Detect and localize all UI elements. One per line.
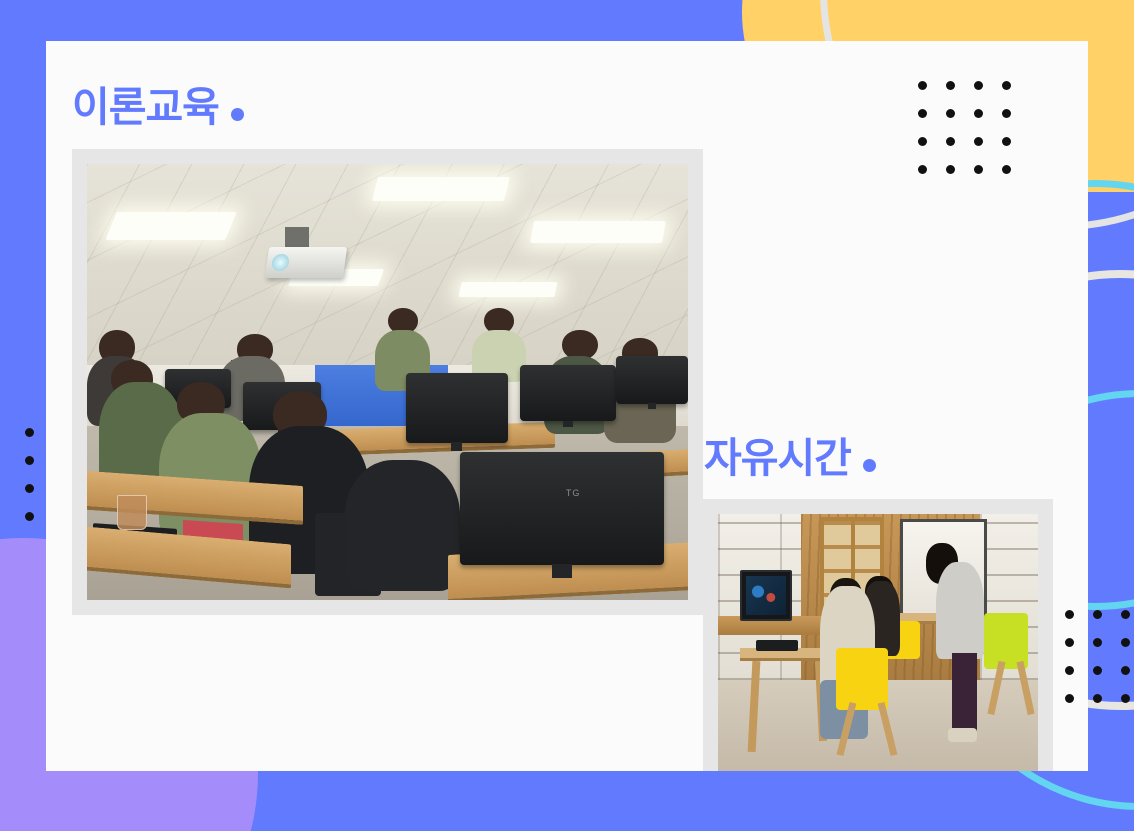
dot xyxy=(918,137,927,146)
standing-person-legs xyxy=(952,653,978,733)
dot-grid-top-right xyxy=(918,81,1030,193)
section-title-text-theory: 이론교육 xyxy=(72,84,219,130)
dot xyxy=(1065,666,1074,675)
standing-person-shoes xyxy=(948,728,977,741)
photo-frame-classroom: TG xyxy=(72,149,703,615)
dot xyxy=(918,109,927,118)
dot xyxy=(1002,81,1011,90)
dot xyxy=(1002,137,1011,146)
dot xyxy=(946,109,955,118)
dot xyxy=(1002,109,1011,118)
lounge-monitor xyxy=(740,570,791,621)
dot xyxy=(946,137,955,146)
dot xyxy=(1065,638,1074,647)
monitor-6 xyxy=(616,356,688,404)
projector-icon xyxy=(265,247,347,278)
dot xyxy=(1093,666,1102,675)
coffee-cup-icon xyxy=(117,495,147,530)
dot xyxy=(1121,638,1130,647)
dot xyxy=(25,456,34,465)
dot xyxy=(974,109,983,118)
page-title-theory: 이론교육 xyxy=(72,87,244,128)
dot xyxy=(25,484,34,493)
title-dot-icon-theory xyxy=(231,108,244,121)
monitor-brand-label: TG xyxy=(566,488,581,498)
dot xyxy=(918,81,927,90)
monitor-1-foreground: TG xyxy=(460,452,664,565)
dot xyxy=(1093,638,1102,647)
student-body-4 xyxy=(345,460,459,591)
dot xyxy=(974,81,983,90)
dot xyxy=(1093,610,1102,619)
ceiling-light-2 xyxy=(372,177,510,201)
title-dot-icon-free-time xyxy=(863,459,876,472)
dot xyxy=(946,165,955,174)
yellow-chair-front xyxy=(836,648,887,710)
dot xyxy=(25,512,34,521)
dot xyxy=(974,165,983,174)
dot xyxy=(946,81,955,90)
lounge-free-time-photo xyxy=(718,514,1038,771)
classroom-lecture-photo: TG xyxy=(87,164,688,600)
page-title-free-time: 자유시간 xyxy=(704,438,876,479)
lounge-keyboard xyxy=(756,640,798,651)
dot xyxy=(918,165,927,174)
dot xyxy=(1065,610,1074,619)
dot-grid-left xyxy=(25,428,53,540)
dot xyxy=(1065,694,1074,703)
ceiling-light-5 xyxy=(458,282,557,297)
dot xyxy=(1093,694,1102,703)
dot xyxy=(1121,610,1130,619)
dot xyxy=(1121,694,1130,703)
photo-frame-lounge xyxy=(703,499,1053,771)
dot-grid-bottom-right xyxy=(1065,610,1134,722)
dot xyxy=(25,428,34,437)
monitor-2 xyxy=(406,373,508,443)
dot xyxy=(1121,666,1130,675)
dot xyxy=(974,137,983,146)
monitor-3 xyxy=(520,365,616,422)
standing-person-body xyxy=(936,562,984,658)
section-title-text-free-time: 자유시간 xyxy=(704,435,851,481)
ceiling-light-1 xyxy=(105,212,237,240)
dot xyxy=(1002,165,1011,174)
ceiling-light-3 xyxy=(530,221,666,243)
